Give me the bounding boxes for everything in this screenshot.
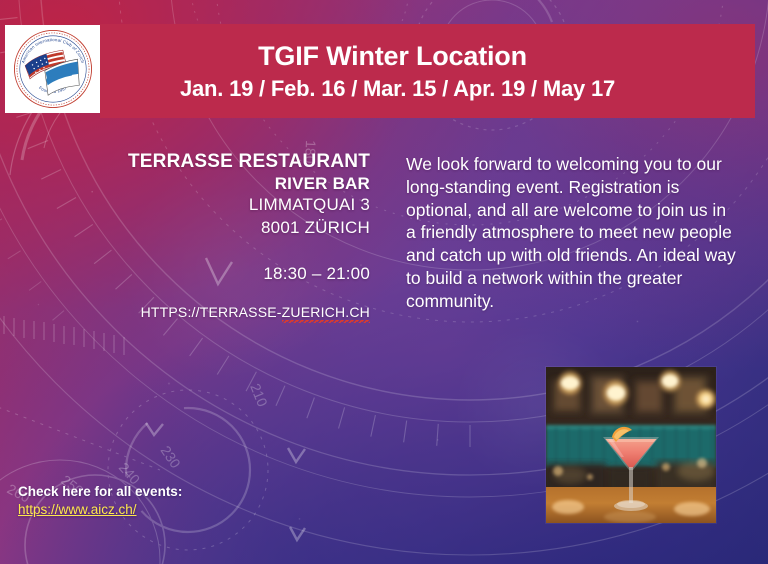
venue-url-misspelled-part: ZUERICH.CH	[282, 304, 370, 323]
footer-link-aicz[interactable]: https://www.aicz.ch/	[18, 501, 137, 519]
venue-time: 18:30 – 21:00	[120, 263, 370, 285]
venue-city: 8001 ZÜRICH	[120, 217, 370, 239]
venue-details: TERRASSE RESTAURANT RIVER BAR LIMMATQUAI…	[120, 150, 370, 322]
cocktail-photo	[546, 367, 716, 523]
dial-number-210: 210	[247, 381, 271, 409]
footer-label: Check here for all events:	[18, 483, 182, 501]
banner-title: TGIF Winter Location	[110, 41, 755, 71]
venue-name: TERRASSE RESTAURANT	[120, 150, 370, 173]
event-description: We look forward to welcoming you to our …	[406, 153, 736, 312]
banner-dates: Jan. 19 / Feb. 16 / Mar. 15 / Apr. 19 / …	[110, 76, 755, 101]
venue-street: LIMMATQUAI 3	[120, 194, 370, 216]
footer-links: Check here for all events: https://www.a…	[18, 483, 182, 519]
club-logo: American International Club of Zurich Fo…	[5, 25, 100, 113]
venue-sub-name: RIVER BAR	[120, 173, 370, 194]
dial-number-230: 230	[158, 443, 184, 471]
cocktail-bar-photo-illustration	[546, 367, 716, 523]
slide-canvas: 180 210 230 240 250 260	[0, 0, 768, 564]
venue-url[interactable]: HTTPS://TERRASSE-ZUERICH.CH	[141, 303, 370, 321]
title-banner: TGIF Winter Location Jan. 19 / Feb. 16 /…	[100, 24, 755, 118]
venue-url-prefix: HTTPS://TERRASSE-	[141, 304, 282, 320]
aicz-club-emblem-icon: American International Club of Zurich Fo…	[10, 28, 96, 110]
